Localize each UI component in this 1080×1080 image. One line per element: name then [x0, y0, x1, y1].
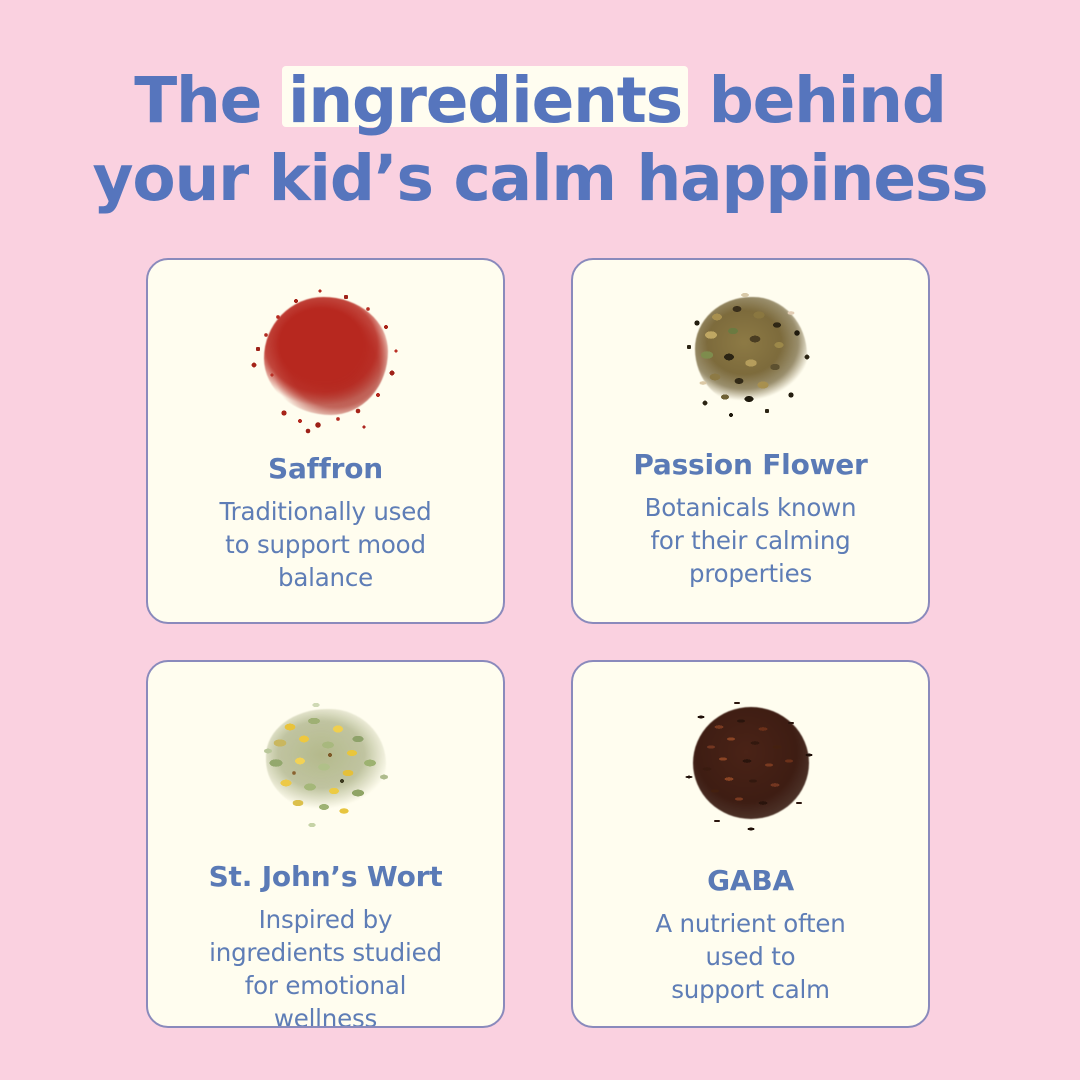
ingredient-card-saffron[interactable]: Saffron Traditionally used to support mo… — [146, 258, 505, 624]
page-title: The ingredients behind your kid’s calm h… — [0, 62, 1080, 218]
card-title: Saffron — [166, 452, 485, 486]
card-title: Passion Flower — [591, 448, 910, 482]
saffron-image-area — [148, 274, 503, 450]
gaba-granules-pile-icon — [671, 695, 831, 845]
passion-flower-text-block: Passion Flower Botanicals known for thei… — [573, 448, 928, 590]
saffron-powder-pile-icon — [246, 287, 406, 437]
headline-line-1: The ingredients behind — [0, 62, 1080, 140]
ingredients-infographic: The ingredients behind your kid’s calm h… — [0, 0, 1080, 1080]
card-description: Botanicals known for their calming prope… — [591, 491, 910, 590]
headline-highlight-ingredients: ingredients — [282, 62, 688, 140]
st-johns-wort-image-area — [148, 680, 503, 856]
st-johns-wort-text-block: St. John’s Wort Inspired by ingredients … — [148, 860, 503, 1028]
card-title: GABA — [591, 864, 910, 898]
passion-flower-image-area — [573, 270, 928, 446]
ingredient-card-st-johns-wort[interactable]: St. John’s Wort Inspired by ingredients … — [146, 660, 505, 1028]
headline-text-before: The — [134, 64, 282, 137]
headline-text-after: behind — [688, 64, 946, 137]
card-description: Inspired by ingredients studied for emot… — [166, 903, 485, 1028]
saffron-text-block: Saffron Traditionally used to support mo… — [148, 452, 503, 594]
card-description: A nutrient often used to support calm — [591, 907, 910, 1006]
gaba-text-block: GABA A nutrient often used to support ca… — [573, 864, 928, 1006]
card-title: St. John’s Wort — [166, 860, 485, 894]
passion-flower-dried-herb-pile-icon — [671, 283, 831, 433]
ingredient-card-passion-flower[interactable]: Passion Flower Botanicals known for thei… — [571, 258, 930, 624]
headline-line-2: your kid’s calm happiness — [0, 140, 1080, 218]
ingredient-card-gaba[interactable]: GABA A nutrient often used to support ca… — [571, 660, 930, 1028]
gaba-image-area — [573, 682, 928, 858]
card-description: Traditionally used to support mood balan… — [166, 495, 485, 594]
st-johns-wort-dried-flower-pile-icon — [246, 693, 406, 843]
ingredient-card-grid: Saffron Traditionally used to support mo… — [146, 258, 930, 1028]
